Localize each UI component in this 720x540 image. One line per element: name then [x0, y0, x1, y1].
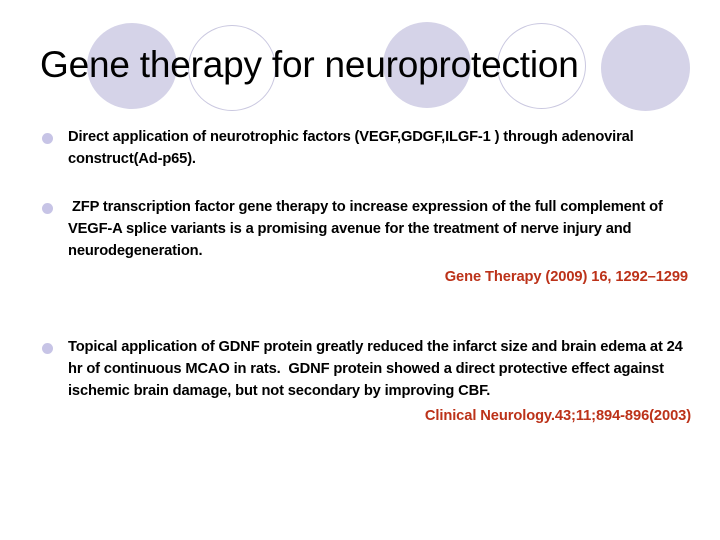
bullet-point-icon — [42, 343, 53, 354]
bullet-item-1-text: Direct application of neurotrophic facto… — [68, 126, 694, 170]
bullet-point-icon — [42, 133, 53, 144]
bullet-item-2: ZFP transcription factor gene therapy to… — [0, 196, 720, 262]
bullet-item-3-text: Topical application of GDNF protein grea… — [68, 336, 694, 402]
spacer-3 — [0, 288, 720, 336]
bullet-item-1: Direct application of neurotrophic facto… — [0, 126, 720, 170]
slide-body: Direct application of neurotrophic facto… — [0, 126, 720, 427]
citation-gene-therapy: Gene Therapy (2009) 16, 1292–1299 — [0, 266, 720, 288]
slide-title: Gene therapy for neuroprotection — [40, 43, 680, 87]
bullet-item-3: Topical application of GDNF protein grea… — [0, 336, 720, 402]
bullet-item-2-text: ZFP transcription factor gene therapy to… — [68, 196, 694, 262]
spacer-1 — [0, 170, 720, 196]
citation-clinical-neurology: Clinical Neurology.43;11;894-896(2003) — [0, 405, 720, 427]
bullet-point-icon — [42, 203, 53, 214]
slide: Gene therapy for neuroprotection Direct … — [0, 0, 720, 540]
